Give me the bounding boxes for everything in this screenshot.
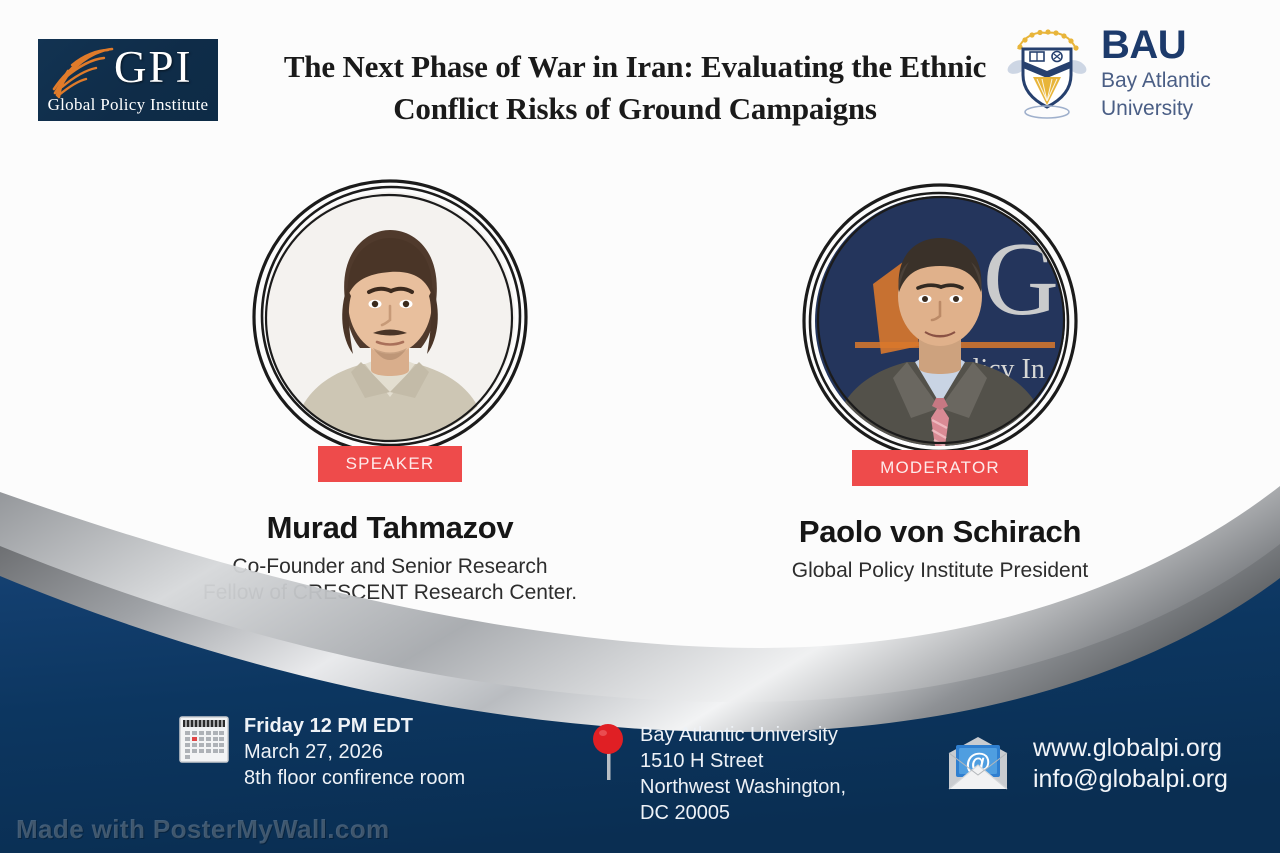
bau-abbreviation: BAU bbox=[1101, 25, 1211, 65]
venue-zip: DC 20005 bbox=[640, 800, 846, 826]
poster-header: GPI Global Policy Institute The Next Pha… bbox=[0, 0, 1280, 150]
calendar-icon bbox=[178, 713, 230, 765]
moderator-photo-frame: G Policy In bbox=[801, 182, 1079, 460]
bau-full-name-line-1: Bay Atlantic bbox=[1101, 68, 1211, 93]
speaker-portrait bbox=[265, 192, 515, 442]
speaker-photo-frame bbox=[251, 178, 529, 456]
event-room: 8th floor confirence room bbox=[244, 765, 465, 791]
venue-city: Northwest Washington, bbox=[640, 774, 846, 800]
event-datetime-text: Friday 12 PM EDT March 27, 2026 8th floo… bbox=[244, 713, 465, 791]
contact-block: @ www.globalpi.org info@globalpi.org bbox=[945, 733, 1228, 795]
event-date: March 27, 2026 bbox=[244, 739, 465, 765]
moderator-role-badge: MODERATOR bbox=[852, 450, 1028, 486]
event-datetime-block: Friday 12 PM EDT March 27, 2026 8th floo… bbox=[178, 713, 465, 791]
bau-logo: BAU Bay Atlantic University bbox=[1005, 20, 1235, 125]
bau-logo-text: BAU Bay Atlantic University bbox=[1101, 25, 1211, 121]
shield-crest-icon bbox=[1005, 27, 1089, 119]
venue-street: 1510 H Street bbox=[640, 748, 846, 774]
venue-name: Bay Atlantic University bbox=[640, 722, 846, 748]
email-envelope-icon: @ bbox=[945, 735, 1011, 793]
website-url[interactable]: www.globalpi.org bbox=[1033, 733, 1228, 764]
event-time: Friday 12 PM EDT bbox=[244, 713, 465, 739]
event-location-block: Bay Atlantic University 1510 H Street No… bbox=[592, 722, 846, 826]
event-location-text: Bay Atlantic University 1510 H Street No… bbox=[640, 722, 846, 826]
gpi-logo-subtitle: Global Policy Institute bbox=[38, 95, 218, 115]
bau-full-name-line-2: University bbox=[1101, 96, 1211, 121]
email-address[interactable]: info@globalpi.org bbox=[1033, 764, 1228, 795]
moderator-portrait: G Policy In bbox=[815, 196, 1065, 446]
globe-mesh-icon bbox=[44, 45, 118, 101]
gpi-logo-letters: GPI bbox=[114, 41, 193, 93]
page-title: The Next Phase of War in Iran: Evaluatin… bbox=[240, 46, 1030, 130]
event-poster: GPI Global Policy Institute The Next Pha… bbox=[0, 0, 1280, 853]
contact-text: www.globalpi.org info@globalpi.org bbox=[1033, 733, 1228, 795]
page-title-line-1: The Next Phase of War in Iran: Evaluatin… bbox=[240, 46, 1030, 88]
speaker-role-badge: SPEAKER bbox=[318, 446, 463, 482]
svg-text:G: G bbox=[983, 220, 1059, 337]
gpi-logo: GPI Global Policy Institute bbox=[38, 39, 218, 121]
map-pin-icon bbox=[592, 722, 626, 780]
page-title-line-2: Conflict Risks of Ground Campaigns bbox=[240, 88, 1030, 130]
postermywall-watermark: Made with PosterMyWall.com bbox=[16, 814, 390, 845]
